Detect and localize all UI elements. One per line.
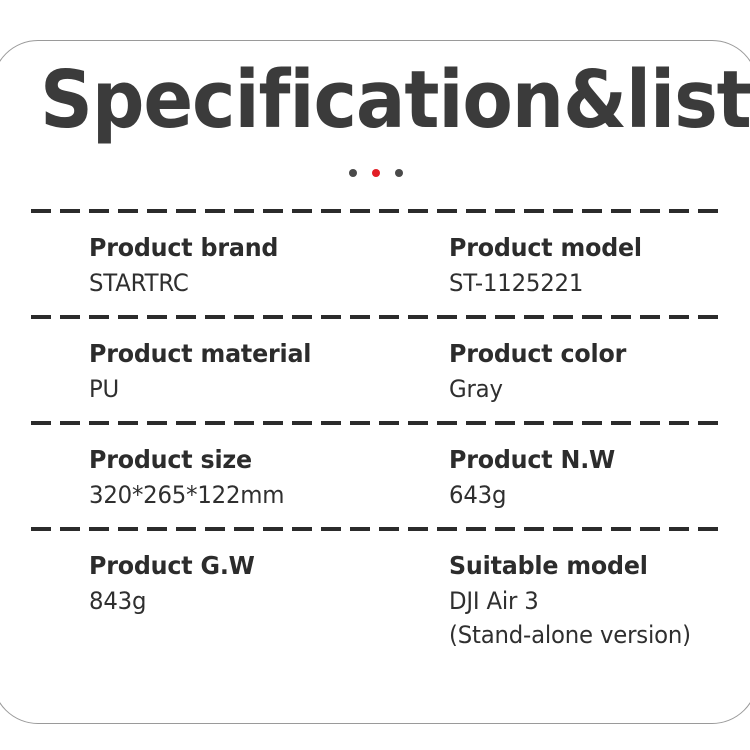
spec-value: 843g — [89, 583, 376, 619]
spec-label: Product size — [89, 443, 376, 477]
table-row: Product G.W 843g Suitable model DJI Air … — [31, 531, 723, 663]
spec-cell-product-net-weight: Product N.W 643g — [391, 443, 723, 513]
specification-card: Specification&list Product brand STARTRC… — [0, 40, 750, 724]
spec-cell-product-brand: Product brand STARTRC — [31, 231, 391, 301]
table-row: Product size 320*265*122mm Product N.W 6… — [31, 425, 723, 527]
spec-label: Suitable model — [449, 549, 709, 583]
spec-cell-product-color: Product color Gray — [391, 337, 723, 407]
spec-value: ST-1125221 — [449, 265, 709, 301]
card-inner: Specification&list Product brand STARTRC… — [1, 41, 750, 725]
table-row: Product brand STARTRC Product model ST-1… — [31, 213, 723, 315]
page-title: Specification&list — [1, 41, 699, 159]
dot-center-icon — [372, 169, 380, 177]
spec-cell-product-model: Product model ST-1125221 — [391, 231, 723, 301]
specification-card-screen: Specification&list Product brand STARTRC… — [0, 0, 750, 750]
spec-value: Gray — [449, 371, 709, 407]
spec-value: STARTRC — [89, 265, 376, 301]
spec-label: Product G.W — [89, 549, 376, 583]
spec-label: Product model — [449, 231, 709, 265]
spec-label: Product N.W — [449, 443, 709, 477]
dot-left-icon — [349, 169, 357, 177]
spec-cell-product-gross-weight: Product G.W 843g — [31, 549, 391, 619]
spec-value: 320*265*122mm — [89, 477, 376, 513]
specification-table: Product brand STARTRC Product model ST-1… — [31, 209, 723, 663]
spec-value: PU — [89, 371, 376, 407]
spec-cell-suitable-model: Suitable model DJI Air 3 (Stand-alone ve… — [391, 549, 723, 653]
dot-separator — [1, 169, 750, 177]
spec-value: 643g — [449, 477, 709, 513]
spec-cell-product-size: Product size 320*265*122mm — [31, 443, 391, 513]
spec-label: Product material — [89, 337, 376, 371]
spec-label: Product brand — [89, 231, 376, 265]
spec-value: DJI Air 3 — [449, 583, 709, 619]
table-row: Product material PU Product color Gray — [31, 319, 723, 421]
title-block: Specification&list — [1, 41, 750, 159]
spec-cell-product-material: Product material PU — [31, 337, 391, 407]
spec-value-secondary: (Stand-alone version) — [449, 617, 709, 653]
dot-right-icon — [395, 169, 403, 177]
spec-label: Product color — [449, 337, 709, 371]
